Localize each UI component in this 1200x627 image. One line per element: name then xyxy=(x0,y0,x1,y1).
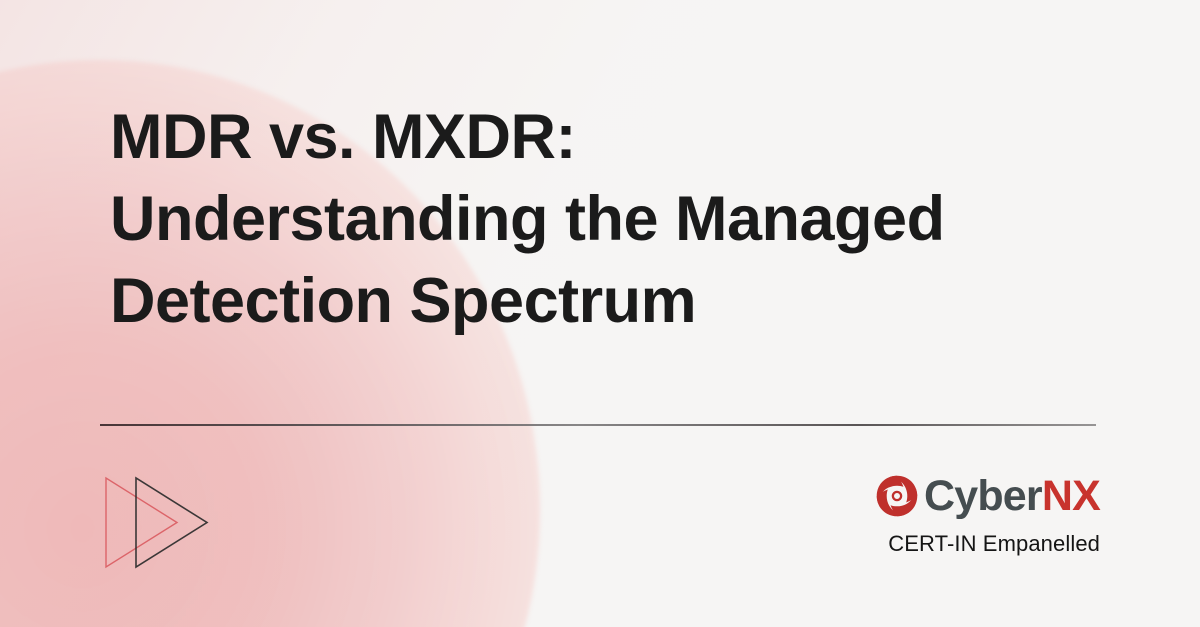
page-title: MDR vs. MXDR: Understanding the Managed … xyxy=(110,96,1150,342)
triangle-outline-front-icon xyxy=(136,478,207,567)
blog-title-banner: MDR vs. MXDR: Understanding the Managed … xyxy=(0,0,1200,627)
page-title-line-1: MDR vs. MXDR: xyxy=(110,96,1150,178)
triangle-outline-back-icon xyxy=(106,478,177,567)
page-title-line-3: Detection Spectrum xyxy=(110,260,1150,342)
brand-row: CyberNX xyxy=(832,470,1100,522)
brand-wordmark: CyberNX xyxy=(924,475,1100,518)
brand-tagline: CERT-IN Empanelled xyxy=(832,531,1100,557)
brand-lockup: CyberNX CERT-IN Empanelled xyxy=(832,470,1100,557)
brand-word-nx: NX xyxy=(1042,472,1100,520)
horizontal-divider xyxy=(100,424,1096,426)
cybernx-swirl-icon xyxy=(874,473,920,519)
play-triangle-mark xyxy=(98,470,218,575)
brand-word-cyber: Cyber xyxy=(924,472,1042,520)
page-title-line-2: Understanding the Managed xyxy=(110,178,1150,260)
